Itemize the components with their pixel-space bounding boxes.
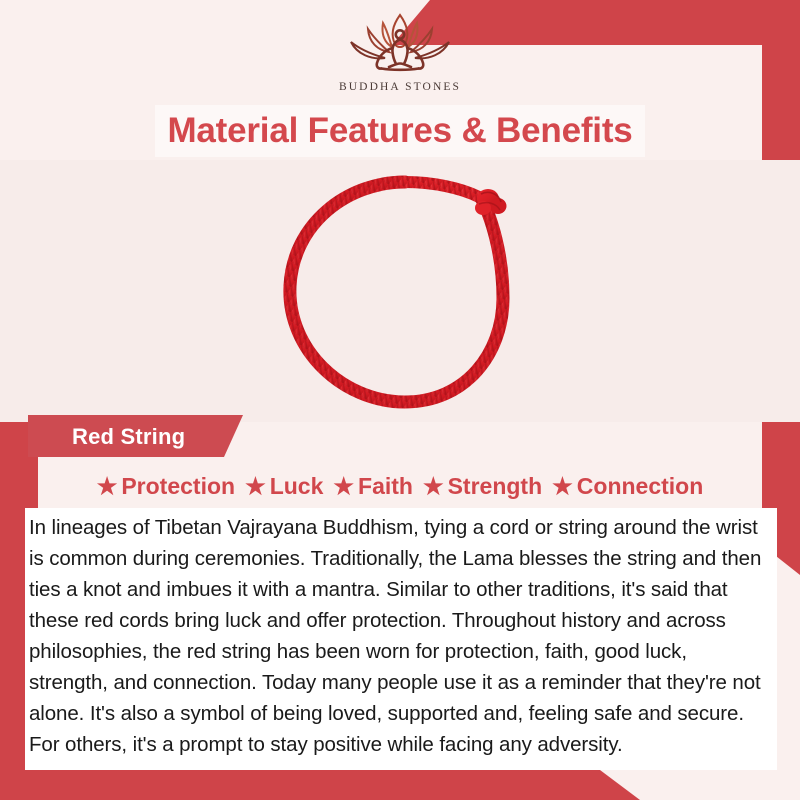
benefits-row: ★ Protection ★ Luck ★ Faith ★ Strength ★… (0, 466, 800, 506)
star-icon: ★ (423, 475, 444, 498)
star-icon: ★ (552, 475, 573, 498)
star-icon: ★ (97, 475, 118, 498)
page-title: Material Features & Benefits (167, 111, 632, 151)
star-icon: ★ (245, 475, 266, 498)
benefit-label: Luck (270, 473, 324, 500)
star-icon: ★ (333, 475, 354, 498)
benefit-label: Protection (121, 473, 235, 500)
description-text: In lineages of Tibetan Vajrayana Buddhis… (25, 512, 777, 760)
product-ribbon-label: Red String (72, 424, 185, 450)
benefit-item: ★ Luck (235, 473, 323, 500)
page-title-band: Material Features & Benefits (155, 105, 645, 157)
benefit-label: Strength (448, 473, 543, 500)
benefit-item: ★ Faith (323, 473, 413, 500)
product-ribbon: Red String (28, 415, 243, 457)
benefit-label: Faith (358, 473, 413, 500)
infographic-page: BUDDHA STONES Material Features & Benefi… (0, 0, 800, 800)
brand-logo: BUDDHA STONES (0, 8, 800, 93)
brand-name: BUDDHA STONES (339, 81, 461, 93)
benefit-item: ★ Strength (413, 473, 542, 500)
red-string-bracelet-image (255, 168, 555, 418)
lotus-meditation-icon (337, 8, 463, 80)
benefit-item: ★ Protection (97, 473, 235, 500)
hero-section (0, 160, 800, 422)
description-card: In lineages of Tibetan Vajrayana Buddhis… (25, 508, 777, 770)
benefit-item: ★ Connection (542, 473, 703, 500)
benefit-label: Connection (577, 473, 704, 500)
